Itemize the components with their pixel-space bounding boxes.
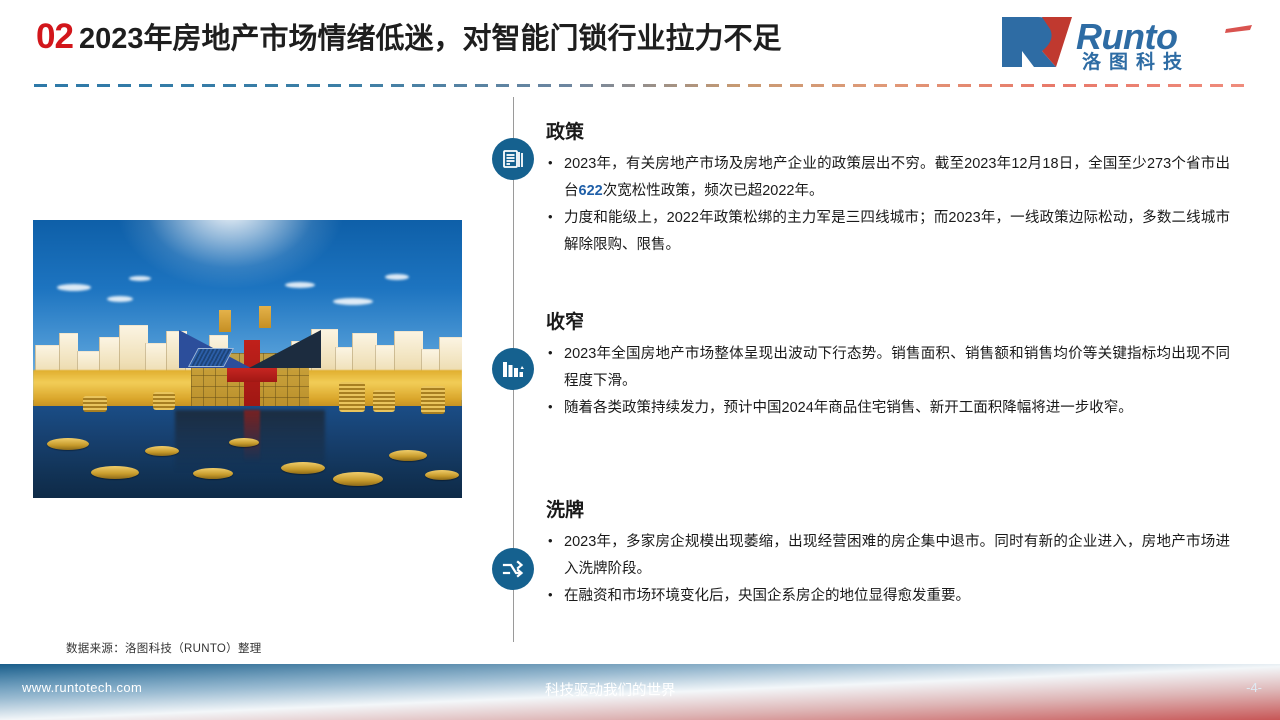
photo-arrow-reflection [244, 410, 260, 462]
list-item: 2023年全国房地产市场整体呈现出波动下行态势。销售面积、销售额和销售均价等关键… [546, 341, 1230, 395]
section-body: 洗牌 2023年，多家房企规模出现萎缩，出现经营困难的房企集中退市。同时有新的企… [546, 500, 1230, 611]
slide-header: 02 2023年房地产市场情绪低迷，对智能门锁行业拉力不足 Runto 洛图科技 [0, 0, 1280, 90]
photo-coin-stack [83, 396, 107, 412]
section-heading: 政策 [546, 122, 1230, 145]
photo-floating-coin [281, 462, 325, 474]
footer-slogan: 科技驱动我们的世界 [545, 679, 676, 700]
title-row: 02 2023年房地产市场情绪低迷，对智能门锁行业拉力不足 [36, 19, 781, 54]
photo-roof-right [249, 330, 321, 368]
photo-floating-coin [229, 438, 259, 447]
photo-coin-stack [153, 392, 175, 410]
photo-cloud [333, 298, 373, 305]
photo-cloud [385, 274, 409, 280]
list-item: 2023年，有关房地产市场及房地产企业的政策层出不穷。截至2023年12月18日… [546, 151, 1230, 205]
photo-coin-stack [421, 386, 445, 414]
list-item: 随着各类政策持续发力，预计中国2024年商品住宅销售、新开工面积降幅将进一步收窄… [546, 395, 1230, 422]
runto-logo: Runto 洛图科技 [994, 11, 1256, 73]
photo-cloud [107, 296, 133, 302]
photo-cloud [57, 284, 91, 291]
photo-red-arrow-cross [227, 368, 277, 382]
logo-wordmark-cn: 洛图科技 [1082, 50, 1190, 73]
section-heading: 收窄 [546, 312, 1230, 335]
bullet-list: 2023年，多家房企规模出现萎缩，出现经营困难的房企集中退市。同时有新的企业进入… [546, 529, 1230, 610]
photo-coin-stack [339, 382, 365, 412]
newspaper-icon [492, 138, 534, 180]
declining-bar-chart-icon [492, 348, 534, 390]
photo-floating-coin [389, 450, 427, 461]
photo-cloud [285, 282, 315, 288]
shuffle-arrows-icon [492, 548, 534, 590]
list-item: 力度和能级上，2022年政策松绑的主力军是三四线城市；而2023年，一线政策边际… [546, 205, 1230, 259]
header-dashed-rule [34, 84, 1246, 87]
photo-chimney [259, 306, 271, 328]
data-source-note: 数据来源：洛图科技（RUNTO）整理 [66, 640, 262, 656]
photo-house [175, 306, 325, 410]
footer-website-url[interactable]: www.runtotech.com [22, 680, 142, 695]
list-item: 在融资和市场环境变化后，央国企系房企的地位显得愈发重要。 [546, 583, 1230, 610]
photo-floating-coin [145, 446, 179, 456]
section-body: 政策 2023年，有关房地产市场及房地产企业的政策层出不穷。截至2023年12月… [546, 122, 1230, 260]
page-number: -4- [1246, 680, 1262, 695]
photo-chimney [219, 310, 231, 332]
real-estate-concept-image [33, 220, 462, 498]
page-title: 2023年房地产市场情绪低迷，对智能门锁行业拉力不足 [79, 25, 782, 54]
section-body: 收窄 2023年全国房地产市场整体呈现出波动下行态势。销售面积、销售额和销售均价… [546, 312, 1230, 423]
photo-floating-coin [193, 468, 233, 479]
photo-coin-stack [373, 390, 395, 412]
logo-red-swoosh [1225, 25, 1252, 33]
bullet-list: 2023年全国房地产市场整体呈现出波动下行态势。销售面积、销售额和销售均价等关键… [546, 341, 1230, 422]
section-heading: 洗牌 [546, 500, 1230, 523]
bullet-list: 2023年，有关房地产市场及房地产企业的政策层出不穷。截至2023年12月18日… [546, 151, 1230, 259]
photo-floating-coin [47, 438, 89, 450]
photo-floating-coin [91, 466, 139, 479]
slide-canvas: 02 2023年房地产市场情绪低迷，对智能门锁行业拉力不足 Runto 洛图科技 [0, 0, 1280, 720]
slide-section-number: 02 [36, 19, 73, 54]
runto-logo-svg: Runto 洛图科技 [994, 11, 1256, 73]
photo-floating-coin [425, 470, 459, 480]
svg-text:洛图科技: 洛图科技 [1082, 50, 1190, 73]
photo-floating-coin [333, 472, 383, 486]
logo-wordmark-runto: Runto [1076, 16, 1177, 57]
photo-cloud [129, 276, 151, 281]
list-item: 2023年，多家房企规模出现萎缩，出现经营困难的房企集中退市。同时有新的企业进入… [546, 529, 1230, 583]
svg-text:Runto: Runto [1076, 16, 1177, 57]
slide-footer: www.runtotech.com 科技驱动我们的世界 -4- [0, 664, 1280, 720]
